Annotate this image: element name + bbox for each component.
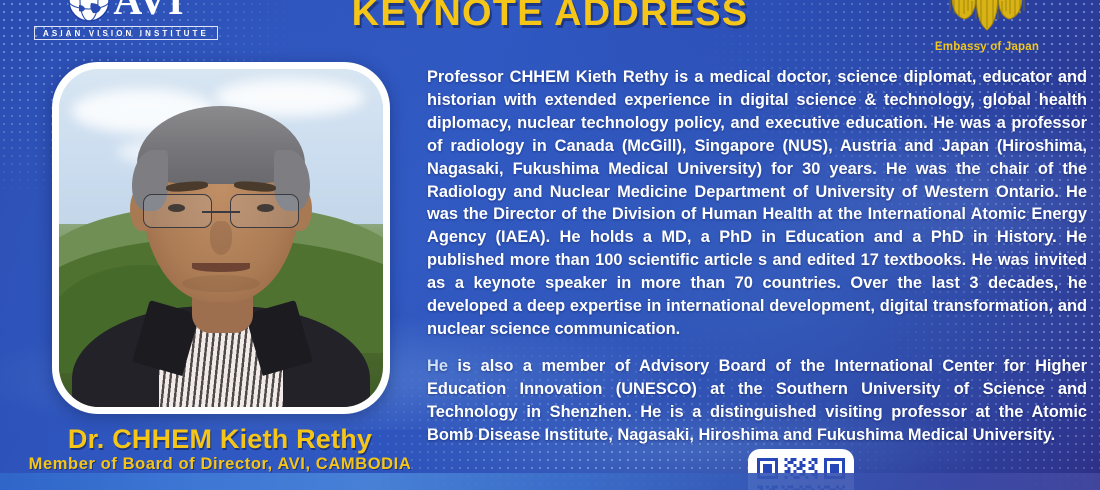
bio-paragraph-1-text: is a medical doctor, science diplomat, e… — [427, 68, 1087, 338]
speaker-biography: Professor CHHEM Kieth Rethy is a medical… — [427, 66, 1087, 447]
bio-paragraph-1: Professor CHHEM Kieth Rethy is a medical… — [427, 66, 1087, 341]
speaker-name: Dr. CHHEM Kieth Rethy — [0, 424, 440, 455]
bottom-accent-bar — [0, 473, 1100, 490]
page-title: KEYNOTE ADDRESS — [0, 0, 1100, 35]
speaker-role: Member of Board of Director, AVI, CAMBOD… — [0, 455, 440, 474]
bio-paragraph-2-text: is also a member of Advisory Board of th… — [427, 357, 1087, 444]
keynote-address-poster: AVI ASIAN VISION INSTITUTE Embassy of Ja… — [0, 0, 1100, 490]
speaker-portrait-photo — [59, 69, 383, 407]
embassy-label: Embassy of Japan — [902, 41, 1072, 53]
bio-paragraph-2: He is also a member of Advisory Board of… — [427, 355, 1087, 447]
speaker-photo-frame — [52, 62, 390, 414]
bio-lead-name: Professor CHHEM Kieth Rethy — [427, 68, 668, 86]
bio-paragraph-2-lead: He — [427, 357, 448, 375]
